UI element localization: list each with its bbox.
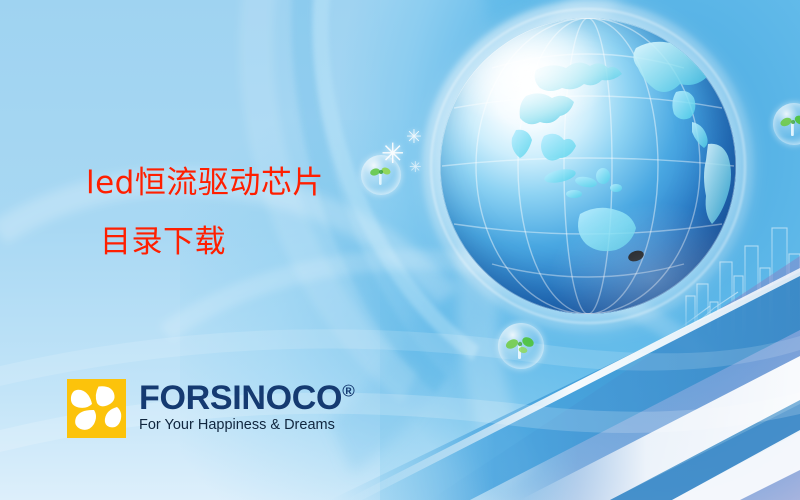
four-petal-flower-icon	[67, 379, 126, 438]
logo-wordmark: FORSINOCO®	[139, 381, 355, 415]
green-sprout-icon	[498, 323, 544, 369]
globe-outer-ring	[430, 8, 746, 324]
flower-petals	[67, 379, 126, 438]
headline-line-1: led恒流驱动芯片	[86, 168, 416, 199]
green-sprout-icon	[773, 103, 800, 145]
logo-tagline: For Your Happiness & Dreams	[139, 418, 355, 434]
promo-banner: ✳ ✳ ✳ led恒流驱动芯片 目录下载	[0, 0, 800, 500]
bubble-with-leaf-icon	[773, 103, 800, 145]
registered-trademark-icon: ®	[342, 382, 355, 401]
logo-wordmark-text: FORSINOCO	[139, 379, 342, 417]
snowflake-icon: ✳	[406, 128, 422, 147]
headline: led恒流驱动芯片 目录下载	[86, 168, 416, 258]
bubble-with-leaf-icon	[498, 323, 544, 369]
brand-logo: FORSINOCO® For Your Happiness & Dreams	[67, 379, 355, 438]
globe-earth-icon	[440, 18, 736, 314]
logo-text-block: FORSINOCO® For Your Happiness & Dreams	[139, 379, 355, 434]
headline-line-2: 目录下载	[86, 227, 416, 258]
